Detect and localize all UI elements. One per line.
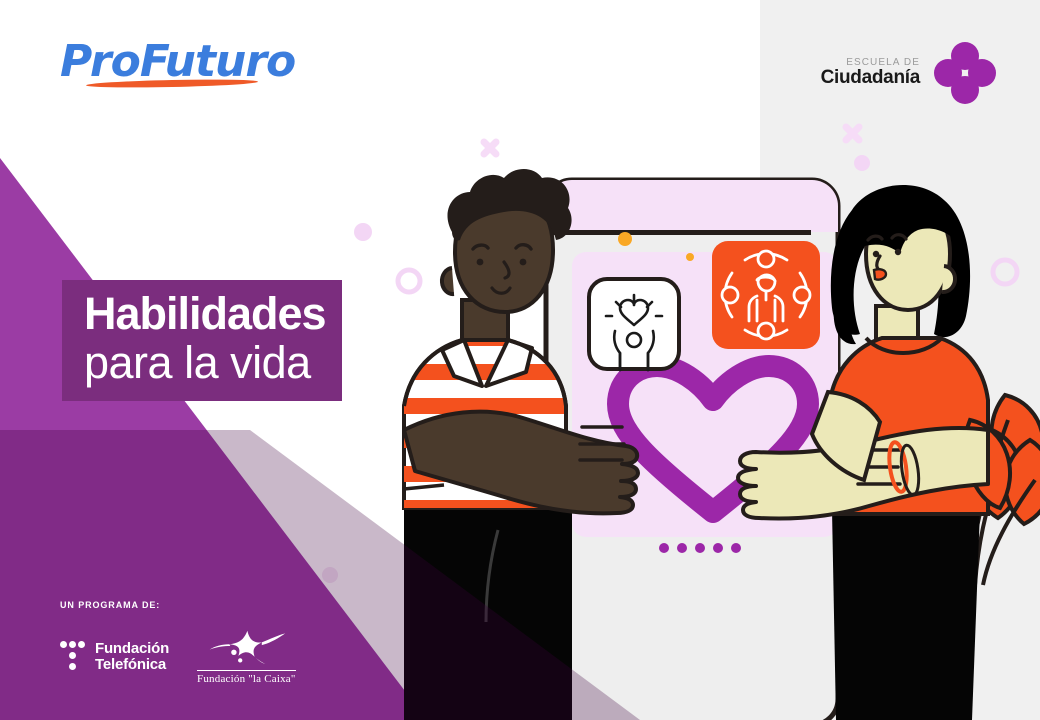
sponsors-label: UN PROGRAMA DE: [60, 600, 296, 610]
dot-orange-large [618, 232, 632, 246]
telefonica-dots-icon [60, 641, 86, 673]
profuturo-logo-text: ProFuturo [60, 40, 295, 84]
dot-orange-small [686, 253, 694, 261]
escuela-ciudadania-logo[interactable]: ESCUELA DE Ciudadanía [821, 42, 996, 104]
card-heart [589, 279, 679, 370]
sponsors-block: UN PROGRAMA DE: Fundación Telefónica [60, 600, 296, 685]
title-line-1: Habilidades [84, 290, 326, 339]
flower-logo-icon [934, 42, 996, 104]
telefonica-line-1: Fundación [95, 641, 169, 657]
flower-petal-bottom-icon [951, 76, 979, 104]
profuturo-logo[interactable]: ProFuturo [60, 40, 295, 87]
title-line-2: para la vida [84, 339, 326, 388]
caixa-star-icon [206, 628, 287, 664]
escuela-ciudadania-text: ESCUELA DE Ciudadanía [821, 57, 920, 89]
telefonica-wordmark: Fundación Telefónica [95, 641, 169, 673]
escuela-line2: Ciudadanía [821, 68, 920, 89]
page-title: Habilidades para la vida [62, 280, 342, 401]
sponsor-fundacion-la-caixa[interactable]: Fundación "la Caixa" [197, 628, 296, 685]
caixa-wordmark: Fundación "la Caixa" [197, 670, 296, 685]
sponsor-fundacion-telefonica[interactable]: Fundación Telefónica [60, 641, 169, 673]
telefonica-line-2: Telefónica [95, 657, 169, 673]
poster-canvas: ProFuturo ESCUELA DE Ciudadanía Habilida… [0, 0, 1040, 720]
card-network [712, 241, 820, 349]
sponsors-row: Fundación Telefónica Fundación "la Caixa… [60, 628, 296, 685]
